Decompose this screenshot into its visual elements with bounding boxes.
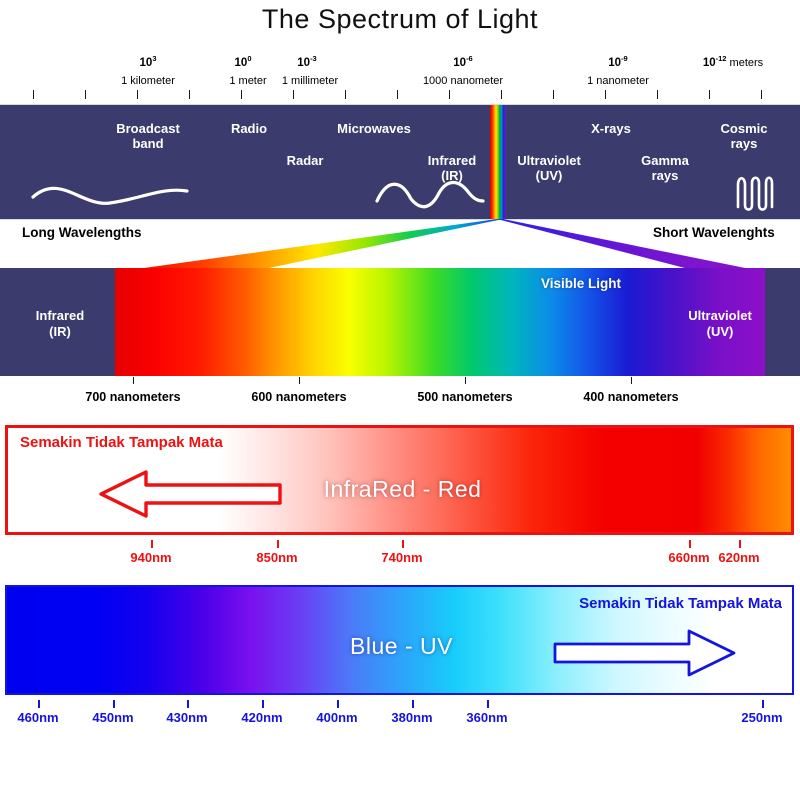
short-wave-icon [735,173,775,211]
uv-tick-1 [113,700,115,708]
scale-exponent-0: 103 [140,54,157,69]
uv-tick-7 [762,700,764,708]
long-wave-icon [30,177,190,211]
em-band-label-cosmic: Cosmicrays [721,121,768,151]
uv-nm-label-6: 360nm [466,710,507,725]
uv-tick-4 [337,700,339,708]
visible-tick-0 [133,377,134,384]
scale-tick-2 [137,90,138,99]
page-title: The Spectrum of Light [0,4,800,35]
em-band-label-microwaves: Microwaves [337,121,411,136]
visible-sliver-marker [490,105,506,219]
uv-tick-2 [187,700,189,708]
uv-caption: Semakin Tidak Tampak Mata [579,595,782,612]
scale-tick-4 [241,90,242,99]
scale-tick-8 [449,90,450,99]
em-band-label-x-rays: X-rays [591,121,631,136]
em-band-label-broadcast: Broadcastband [116,121,180,151]
visible-band-ruler [0,377,800,387]
scale-tick-14 [761,90,762,99]
em-band-label-ultraviolet: Ultraviolet(UV) [517,153,581,183]
blue-uv-panel: Semakin Tidak Tampak Mata Blue - UV [5,585,794,695]
uv-tick-6 [487,700,489,708]
scale-unit-3: 1000 nanometer [423,75,503,87]
em-band-label-gamma: Gammarays [641,153,689,183]
scale-tick-3 [189,90,190,99]
uv-nm-label-5: 380nm [391,710,432,725]
scale-tick-9 [501,90,502,99]
infrared-red-panel: Semakin Tidak Tampak Mata InfraRed - Red [5,425,794,535]
infrared-tick-2 [402,540,404,548]
uv-nm-label-1: 450nm [92,710,133,725]
electromagnetic-spectrum-band: BroadcastbandRadioMicrowavesRadarInfrare… [0,104,800,220]
visible-light-band: Visible Light [0,268,800,376]
scale-tick-11 [605,90,606,99]
visible-tick-3 [631,377,632,384]
infrared-nm-label-1: 850nm [256,550,297,565]
infrared-panel-title: InfraRed - Red [8,476,794,503]
infrared-tick-3 [689,540,691,548]
infrared-tick-4 [739,540,741,548]
visible-nm-label-1: 600 nanometers [251,390,346,404]
infrared-nm-label-0: 940nm [130,550,171,565]
scale-unit-1: 1 meter [229,75,266,87]
em-band-label-radio: Radio [231,121,267,136]
scale-exponent-1: 100 [235,54,252,69]
infrared-nm-label-3: 660nm [668,550,709,565]
uv-nm-label-0: 460nm [17,710,58,725]
uv-tick-0 [38,700,40,708]
scale-unit-0: 1 kilometer [121,75,175,87]
uv-tick-5 [412,700,414,708]
spectrum-infographic: The Spectrum of Light 10310010-310-610-9… [0,0,800,800]
visible-tick-1 [299,377,300,384]
visible-nm-label-3: 400 nanometers [583,390,678,404]
scale-ruler [0,90,800,100]
scale-tick-13 [709,90,710,99]
infrared-caption: Semakin Tidak Tampak Mata [20,434,223,451]
scale-unit-2: 1 millimeter [282,75,338,87]
scale-tick-1 [85,90,86,99]
scale-exponent-2: 10-3 [297,54,316,69]
scale-tick-5 [293,90,294,99]
uv-nm-label-4: 400nm [316,710,357,725]
em-band-label-infrared: Infrared(IR) [428,153,476,183]
prism-fan [0,219,800,272]
infrared-tick-0 [151,540,153,548]
visible-tick-2 [465,377,466,384]
uv-tick-3 [262,700,264,708]
scale-tick-0 [33,90,34,99]
scale-tick-12 [657,90,658,99]
scale-tick-10 [553,90,554,99]
infrared-tick-1 [277,540,279,548]
infrared-nm-label-2: 740nm [381,550,422,565]
visible-nm-label-0: 700 nanometers [85,390,180,404]
visible-spectrum-gradient [115,268,765,376]
em-band-label-radar: Radar [287,153,324,168]
uv-nm-label-3: 420nm [241,710,282,725]
infrared-nm-label-4: 620nm [718,550,759,565]
visible-band-infrared-label: Infrared(IR) [36,308,84,340]
scale-tick-6 [345,90,346,99]
scale-exponent-5: 10-12 meters [703,54,763,69]
scale-exponent-4: 10-9 [608,54,627,69]
visible-nm-label-2: 500 nanometers [417,390,512,404]
scale-exponent-3: 10-6 [453,54,472,69]
scale-unit-4: 1 nanometer [587,75,649,87]
uv-nm-label-2: 430nm [166,710,207,725]
uv-nm-label-7: 250nm [741,710,782,725]
uv-panel-title: Blue - UV [7,633,794,660]
visible-band-ultraviolet-label: Ultraviolet(UV) [688,308,752,340]
scale-tick-7 [397,90,398,99]
visible-light-label: Visible Light [541,276,621,291]
